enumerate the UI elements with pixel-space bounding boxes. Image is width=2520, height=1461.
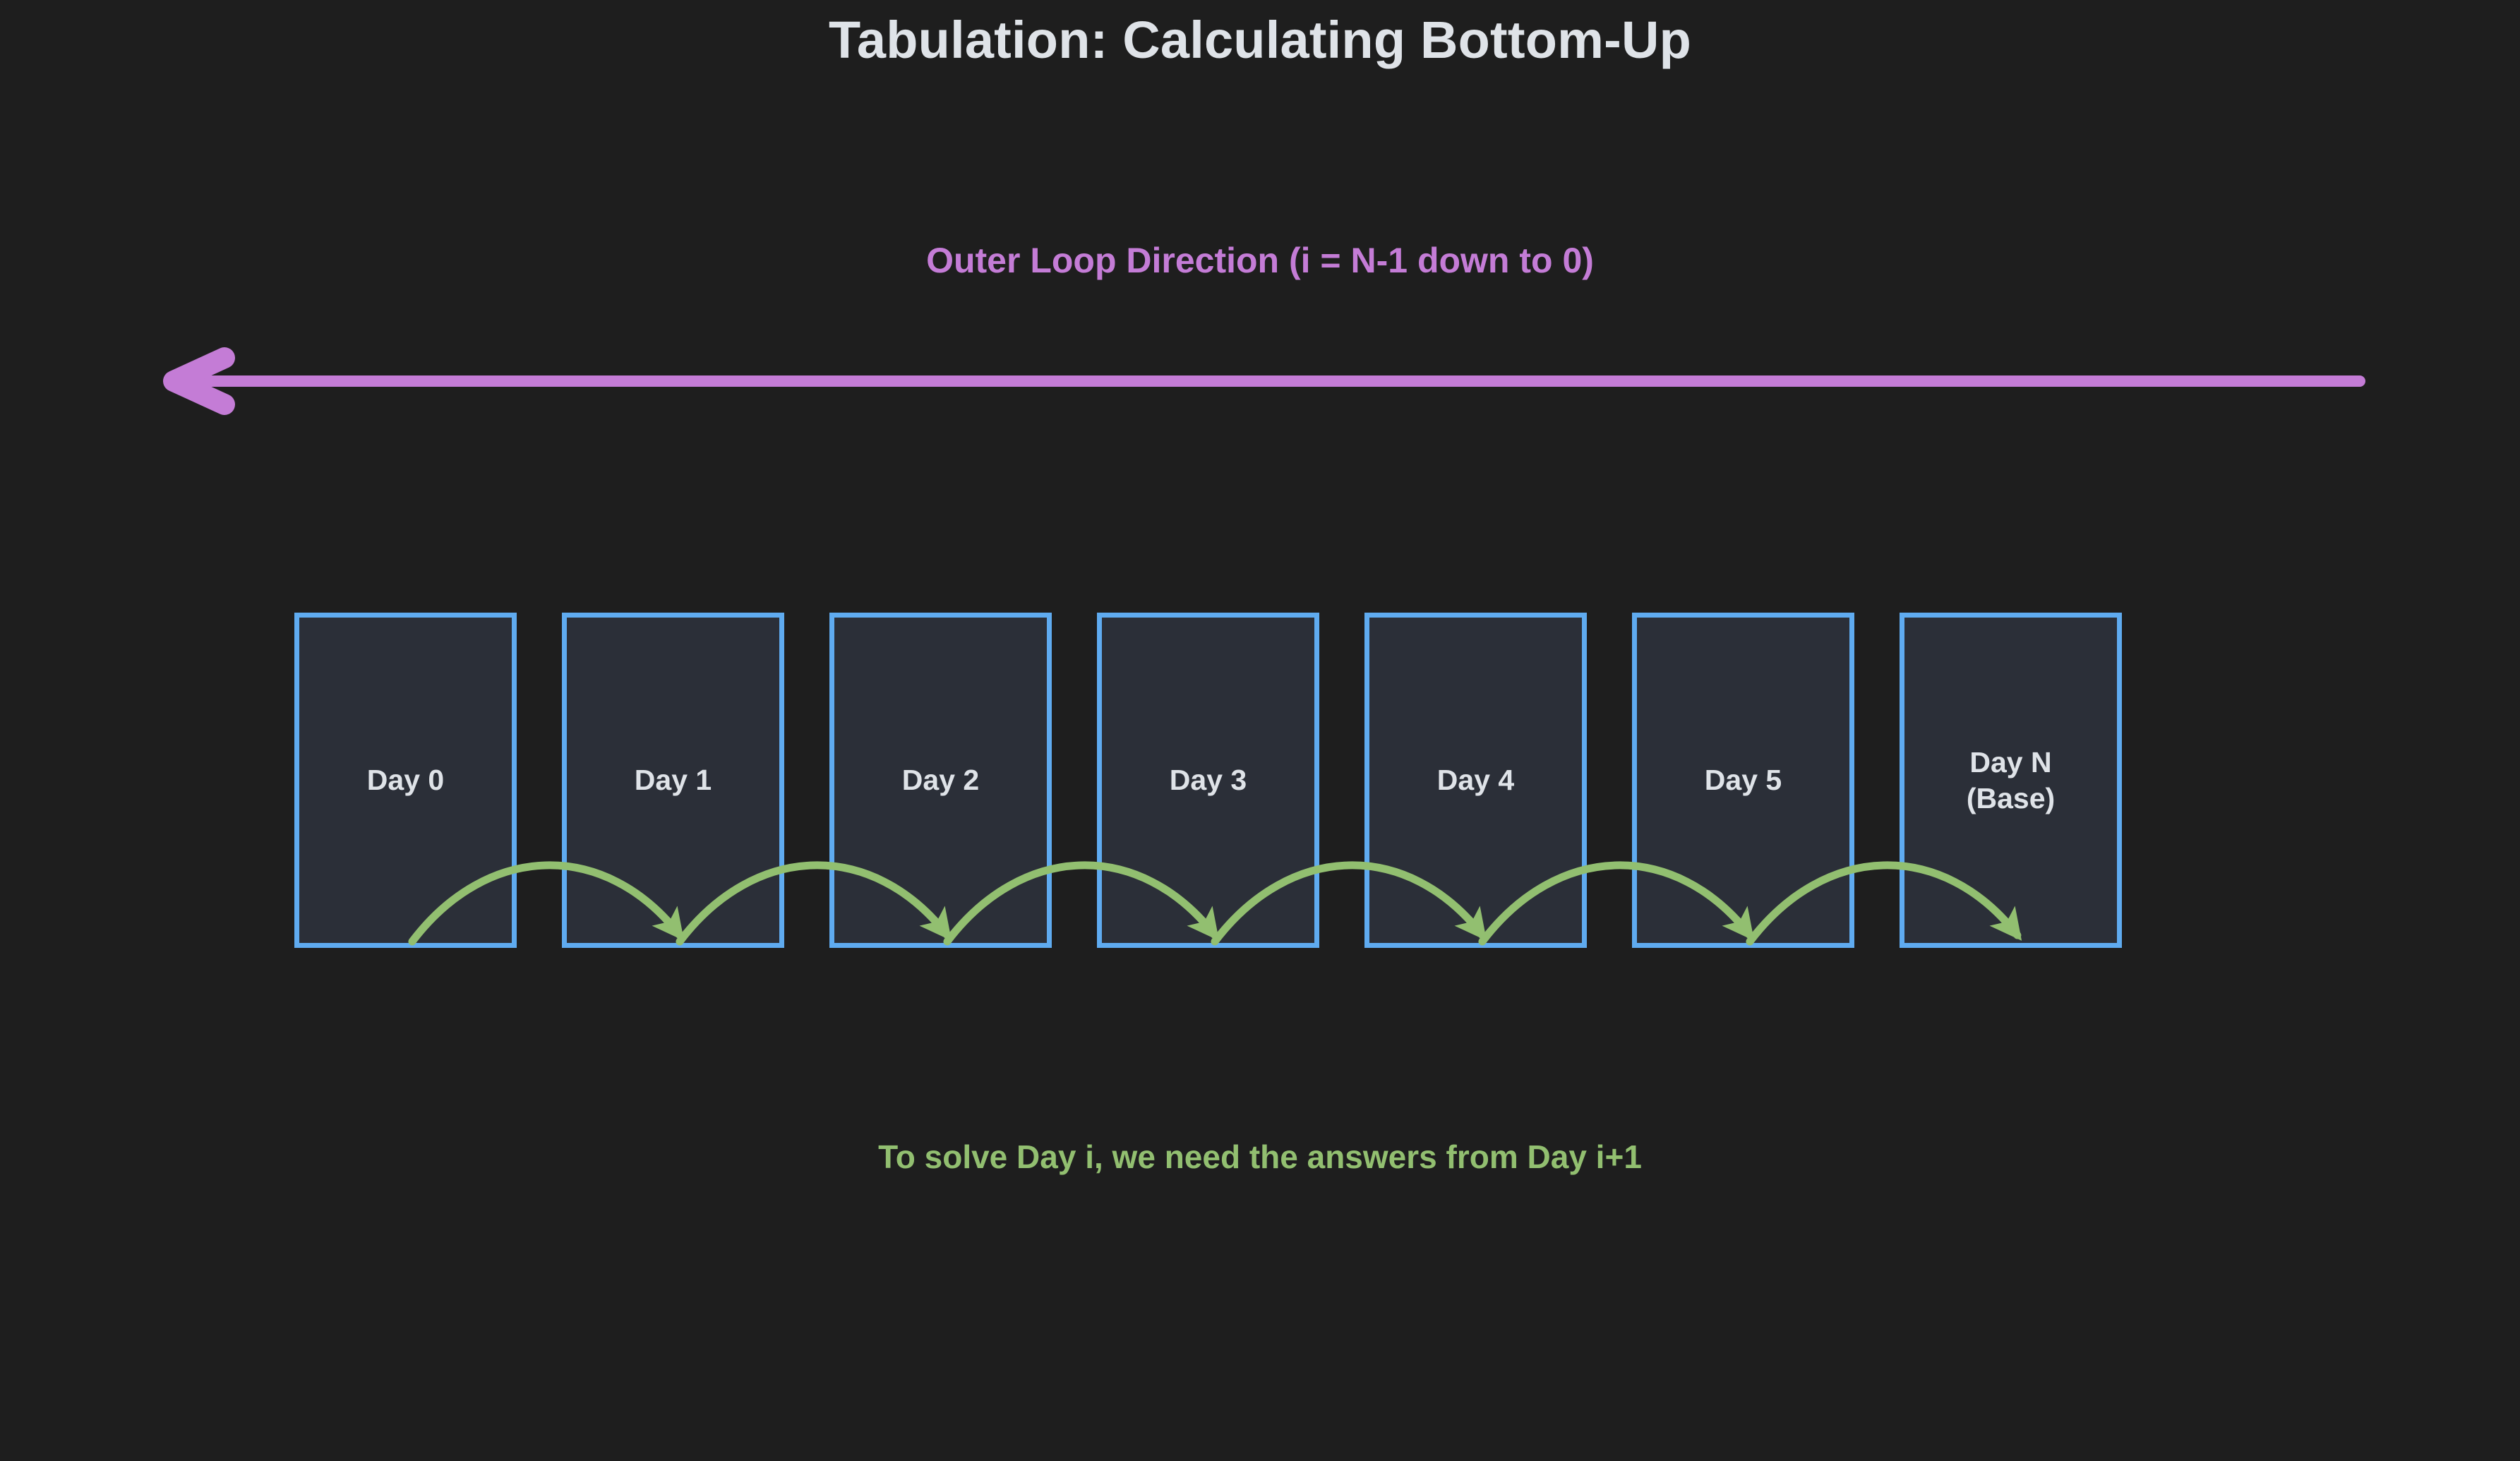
day-box-5[interactable]: Day 5 (1632, 613, 1854, 948)
day-box-1[interactable]: Day 1 (562, 613, 784, 948)
day-box-label: Day 2 (902, 762, 979, 798)
caption-text: To solve Day i, we need the answers from… (0, 1138, 2520, 1176)
day-box-label: Day 4 (1437, 762, 1514, 798)
day-box-label: Day 0 (367, 762, 444, 798)
long-left-arrow-icon (174, 358, 2360, 404)
diagram-canvas: Tabulation: Calculating Bottom-Up Outer … (0, 0, 2520, 1461)
day-box-label: Day 1 (635, 762, 712, 798)
day-boxes-row: Day 0 Day 1 Day 2 Day 3 Day 4 Day 5 Day … (294, 613, 2200, 948)
page-title: Tabulation: Calculating Bottom-Up (0, 10, 2520, 70)
day-box-label: Day 3 (1170, 762, 1247, 798)
day-box-4[interactable]: Day 4 (1364, 613, 1587, 948)
loop-direction-arrow (0, 325, 2520, 445)
day-box-0[interactable]: Day 0 (294, 613, 517, 948)
day-box-3[interactable]: Day 3 (1097, 613, 1319, 948)
day-box-label: Day N (Base) (1967, 745, 2055, 817)
day-box-n-base[interactable]: Day N (Base) (1900, 613, 2122, 948)
day-box-2[interactable]: Day 2 (829, 613, 1052, 948)
day-box-label: Day 5 (1705, 762, 1782, 798)
loop-direction-label: Outer Loop Direction (i = N-1 down to 0) (0, 240, 2520, 281)
